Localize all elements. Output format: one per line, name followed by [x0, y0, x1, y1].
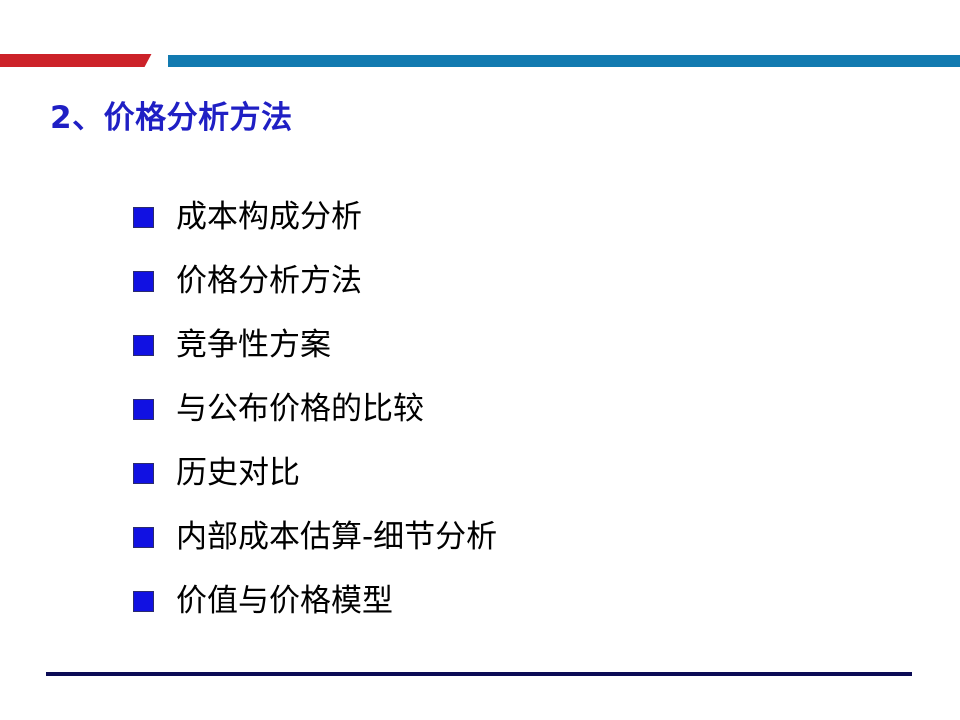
list-item: 竞争性方案 — [133, 325, 893, 389]
slide-title: 2、价格分析方法 — [50, 97, 293, 139]
bottom-divider-rule — [46, 672, 912, 676]
square-bullet-icon — [133, 463, 154, 484]
square-bullet-icon — [133, 527, 154, 548]
list-item: 与公布价格的比较 — [133, 389, 893, 453]
list-item: 价值与价格模型 — [133, 581, 893, 645]
list-item-label: 竞争性方案 — [176, 325, 893, 365]
list-item: 内部成本估算-细节分析 — [133, 517, 893, 581]
bullet-list: 成本构成分析 价格分析方法 竞争性方案 与公布价格的比较 历史对比 内部成本估算… — [133, 197, 893, 645]
list-item-label: 历史对比 — [176, 453, 893, 493]
list-item-label: 成本构成分析 — [176, 197, 893, 237]
list-item-label: 价值与价格模型 — [176, 581, 893, 621]
square-bullet-icon — [133, 591, 154, 612]
top-decorative-rule — [0, 52, 960, 68]
square-bullet-icon — [133, 271, 154, 292]
list-item-label: 价格分析方法 — [176, 261, 893, 301]
list-item: 成本构成分析 — [133, 197, 893, 261]
list-item-label: 内部成本估算-细节分析 — [176, 517, 893, 557]
list-item-label: 与公布价格的比较 — [176, 389, 893, 429]
slide-canvas: 2、价格分析方法 成本构成分析 价格分析方法 竞争性方案 与公布价格的比较 历史… — [0, 0, 960, 720]
square-bullet-icon — [133, 207, 154, 228]
top-rule-blue-segment — [168, 55, 960, 67]
list-item: 历史对比 — [133, 453, 893, 517]
square-bullet-icon — [133, 399, 154, 420]
list-item: 价格分析方法 — [133, 261, 893, 325]
square-bullet-icon — [133, 335, 154, 356]
